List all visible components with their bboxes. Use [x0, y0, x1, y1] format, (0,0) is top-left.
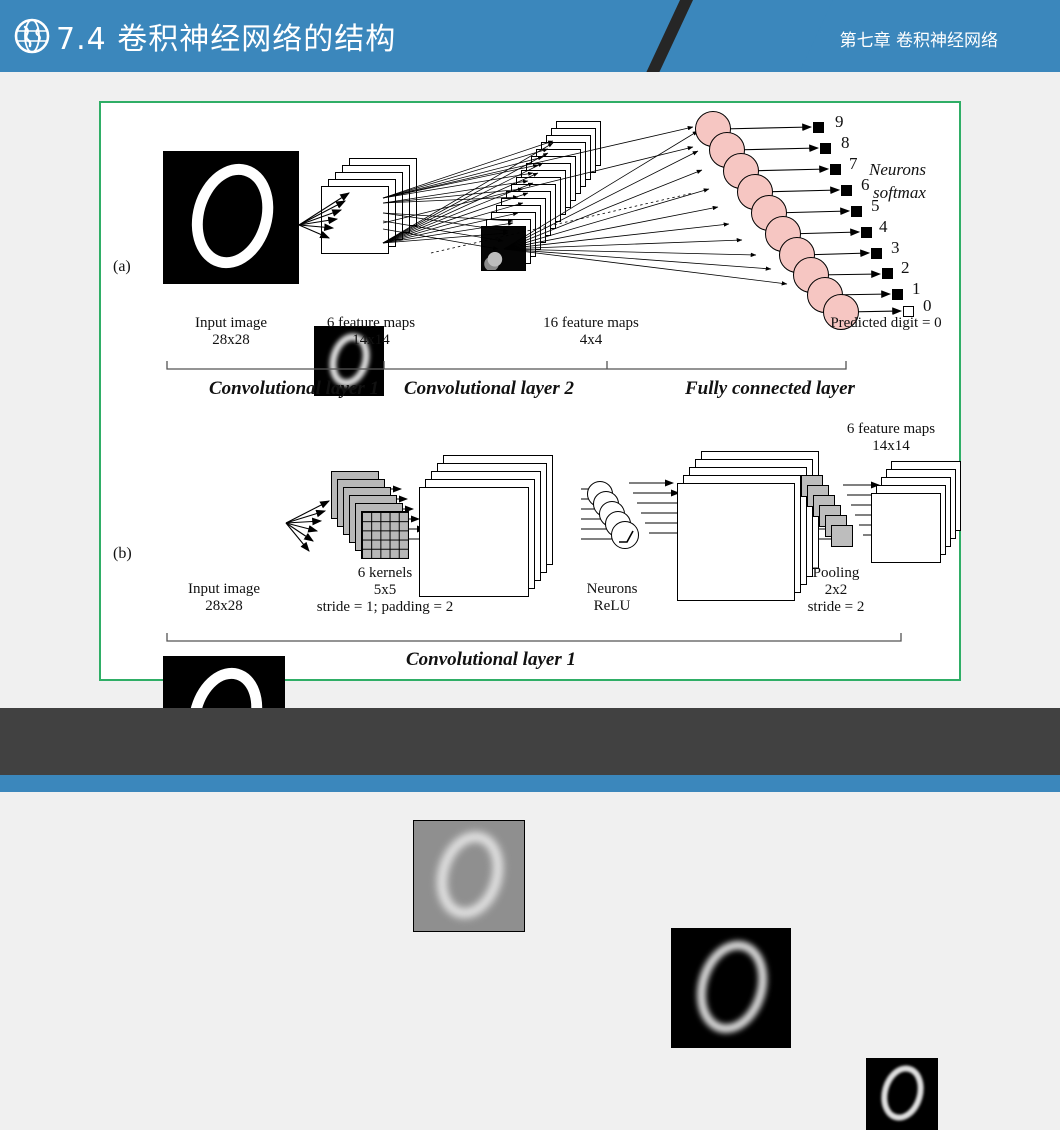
caption-line: 14x14	[352, 332, 390, 348]
globe-icon	[14, 18, 50, 54]
panel-a-input-image	[163, 151, 299, 284]
panel-b-letter: (b)	[113, 545, 132, 563]
panel-b-neurons-caption: Neurons ReLU	[557, 581, 667, 615]
panel-b-output-caption: 6 feature maps 14x14	[811, 421, 971, 455]
panel-a-fmap2-caption: 16 feature maps 4x4	[506, 315, 676, 349]
layer-span-label-conv1: Convolutional layer 1	[209, 378, 379, 400]
caption-line: 6 feature maps	[847, 421, 935, 437]
panel-b-input-caption: Input image 28x28	[154, 581, 294, 615]
softmax-label-line1: Neurons	[869, 160, 926, 180]
caption-line: ReLU	[594, 598, 631, 614]
caption-line: 2x2	[825, 582, 848, 598]
output-square	[892, 289, 903, 300]
panel-b-relu-front	[671, 928, 791, 1048]
output-digit-label: 8	[841, 133, 850, 153]
output-square	[841, 185, 852, 196]
output-digit-label: 0	[923, 296, 932, 316]
footer-dark-band	[0, 708, 1060, 775]
output-digit-label: 4	[879, 217, 888, 237]
caption-line: 6 feature maps	[327, 315, 415, 331]
output-square	[813, 122, 824, 133]
panel-b-layer-span-label: Convolutional layer 1	[406, 649, 576, 671]
panel-b-pooling-caption: Pooling 2x2 stride = 2	[761, 565, 911, 615]
output-square	[851, 206, 862, 217]
relu-symbol-icon	[612, 522, 640, 550]
caption-line: Input image	[195, 315, 267, 331]
footer-accent-band	[0, 775, 1060, 792]
output-square	[882, 268, 893, 279]
caption-line: 4x4	[580, 332, 603, 348]
output-square	[871, 248, 882, 259]
relu-neuron	[611, 521, 639, 549]
output-square	[820, 143, 831, 154]
caption-line: Neurons	[587, 581, 638, 597]
panel-a-fmap2-front	[481, 226, 526, 271]
pooling-block	[831, 525, 853, 547]
figure-container: (a)	[99, 101, 961, 681]
caption-line: 28x28	[212, 332, 250, 348]
output-square	[861, 227, 872, 238]
chapter-label: 第七章 卷积神经网络	[840, 26, 998, 51]
kernel-grid-front	[361, 511, 409, 559]
header-underline	[0, 72, 1060, 75]
output-digit-label: 2	[901, 258, 910, 278]
panel-b-pool-front	[866, 1058, 938, 1130]
panel-b-conv-front	[413, 820, 525, 932]
digit-zero-glyph	[427, 824, 513, 926]
caption-line: stride = 1; padding = 2	[317, 599, 454, 615]
digit-zero-glyph	[180, 154, 285, 278]
prediction-label: Predicted digit = 0	[791, 315, 981, 332]
digit-zero-glyph	[875, 1061, 929, 1126]
caption-line: 28x28	[205, 598, 243, 614]
panel-a-fmap1-sheet	[321, 186, 389, 254]
caption-line: stride = 2	[808, 599, 865, 615]
page-title: 7.4 卷积神经网络的结构	[56, 14, 396, 58]
output-digit-label: 3	[891, 238, 900, 258]
output-digit-label: 9	[835, 112, 844, 132]
layer-span-label-fc: Fully connected layer	[685, 378, 855, 400]
figure-canvas: (a)	[101, 103, 959, 679]
output-digit-label: 1	[912, 279, 921, 299]
panel-b-kernels-caption: 6 kernels 5x5 stride = 1; padding = 2	[285, 565, 485, 615]
caption-line: 6 kernels	[358, 565, 413, 581]
caption-line: Input image	[188, 581, 260, 597]
digit-zero-glyph	[686, 932, 778, 1042]
panel-a-fmap1-caption: 6 feature maps 14x14	[291, 315, 451, 349]
caption-line: 14x14	[872, 438, 910, 454]
slide-header: 7.4 卷积神经网络的结构 第七章 卷积神经网络	[0, 0, 1060, 72]
panel-a-letter: (a)	[113, 258, 131, 276]
softmax-label-line2: softmax	[873, 183, 926, 203]
panel-a-input-caption: Input image 28x28	[161, 315, 301, 349]
output-digit-label: 7	[849, 154, 858, 174]
output-square	[830, 164, 841, 175]
panel-b-pool-sheet	[871, 493, 941, 563]
layer-span-label-conv2: Convolutional layer 2	[404, 378, 574, 400]
caption-line: Pooling	[813, 565, 860, 581]
caption-line: 16 feature maps	[543, 315, 639, 331]
caption-line: 5x5	[374, 582, 397, 598]
